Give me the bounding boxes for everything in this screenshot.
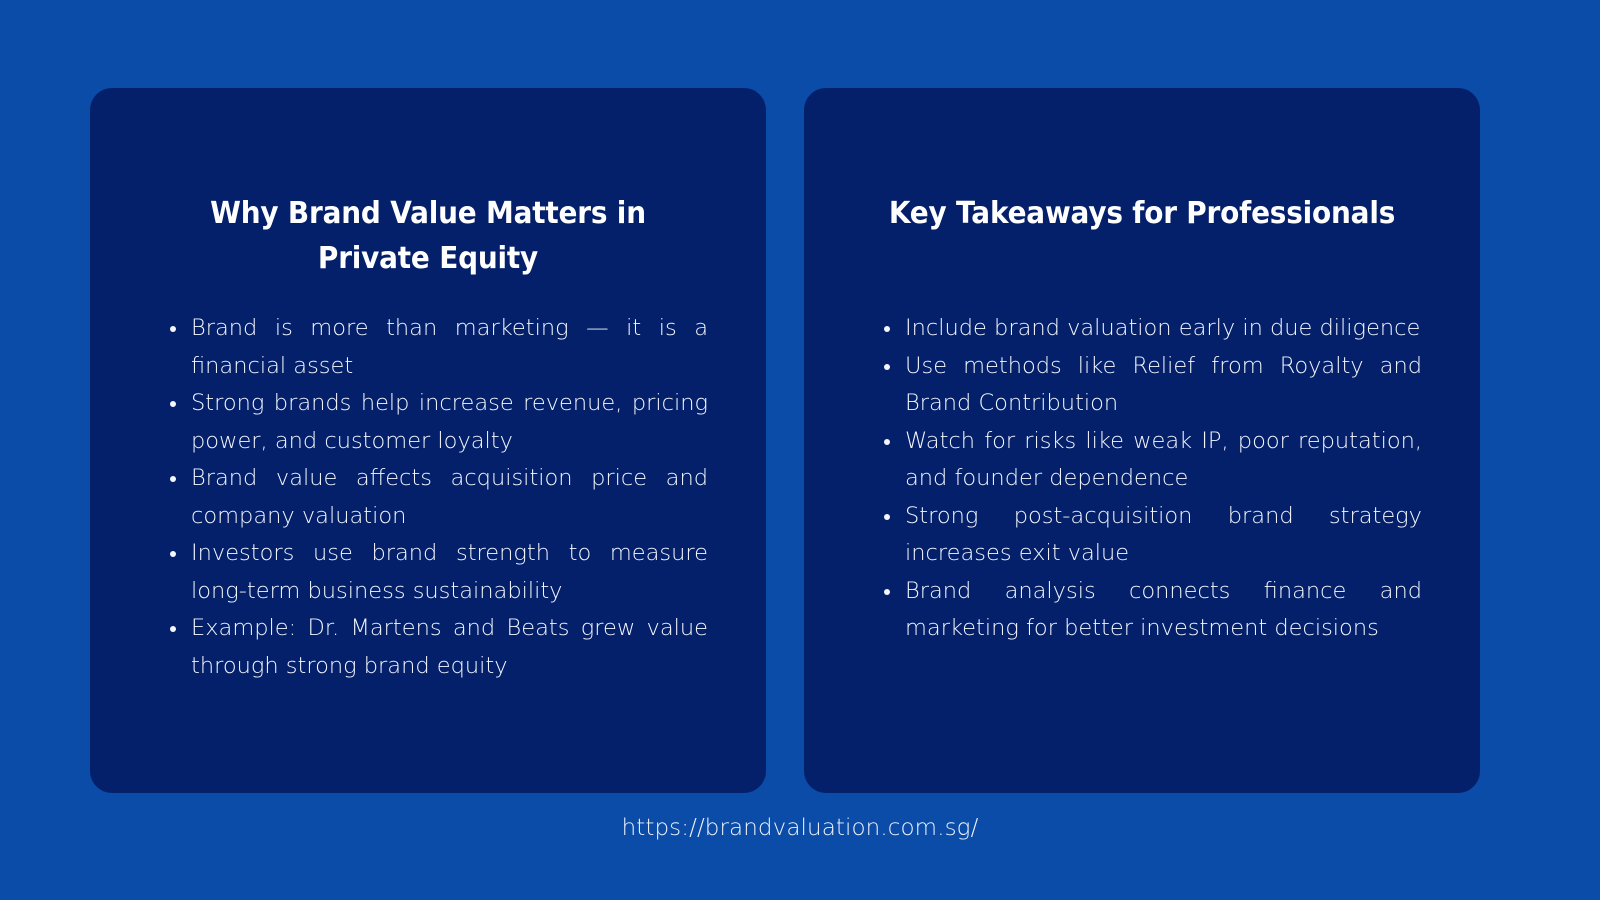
list-item: Strong post-acquisition brand strategy i… — [882, 498, 1422, 573]
bullet-text: Strong post-acquisition brand strategy i… — [905, 503, 1422, 567]
bullet-list-left: Brand is more than marketing — it is a f… — [168, 310, 708, 685]
bullet-text: Use methods like Relief from Royalty and… — [905, 353, 1422, 417]
slide-canvas: Why Brand Value Matters in Private Equit… — [0, 0, 1600, 900]
list-item: Brand is more than marketing — it is a f… — [168, 310, 708, 385]
card-key-takeaways-for-professionals: Key Takeaways for Professionals Include … — [804, 88, 1480, 793]
list-item: Brand value affects acquisition price an… — [168, 460, 708, 535]
card-why-brand-value-matters: Why Brand Value Matters in Private Equit… — [90, 88, 766, 793]
bullet-text: Example: Dr. Martens and Beats grew valu… — [191, 615, 708, 679]
list-item: Include brand valuation early in due dil… — [882, 310, 1422, 348]
bullet-text: Watch for risks like weak IP, poor reput… — [905, 428, 1422, 492]
bullet-list-right: Include brand valuation early in due dil… — [882, 310, 1422, 648]
card-title-right: Key Takeaways for Professionals — [828, 191, 1457, 236]
bullet-text: Include brand valuation early in due dil… — [905, 315, 1420, 341]
list-item: Use methods like Relief from Royalty and… — [882, 348, 1422, 423]
list-item: Brand analysis connects finance and mark… — [882, 573, 1422, 648]
bullet-text: Strong brands help increase revenue, pri… — [191, 390, 708, 454]
list-item: Investors use brand strength to measure … — [168, 535, 708, 610]
card-title-left: Why Brand Value Matters in Private Equit… — [114, 191, 743, 281]
list-item: Watch for risks like weak IP, poor reput… — [882, 423, 1422, 498]
bullet-text: Brand is more than marketing — it is a f… — [191, 315, 708, 379]
list-item: Example: Dr. Martens and Beats grew valu… — [168, 610, 708, 685]
bullet-text: Brand analysis connects finance and mark… — [905, 578, 1422, 642]
list-item: Strong brands help increase revenue, pri… — [168, 385, 708, 460]
bullet-text: Brand value affects acquisition price an… — [191, 465, 708, 529]
bullet-text: Investors use brand strength to measure … — [191, 540, 708, 604]
cards-container: Why Brand Value Matters in Private Equit… — [90, 88, 1480, 793]
footer-url[interactable]: https://brandvaluation.com.sg/ — [0, 812, 1600, 844]
